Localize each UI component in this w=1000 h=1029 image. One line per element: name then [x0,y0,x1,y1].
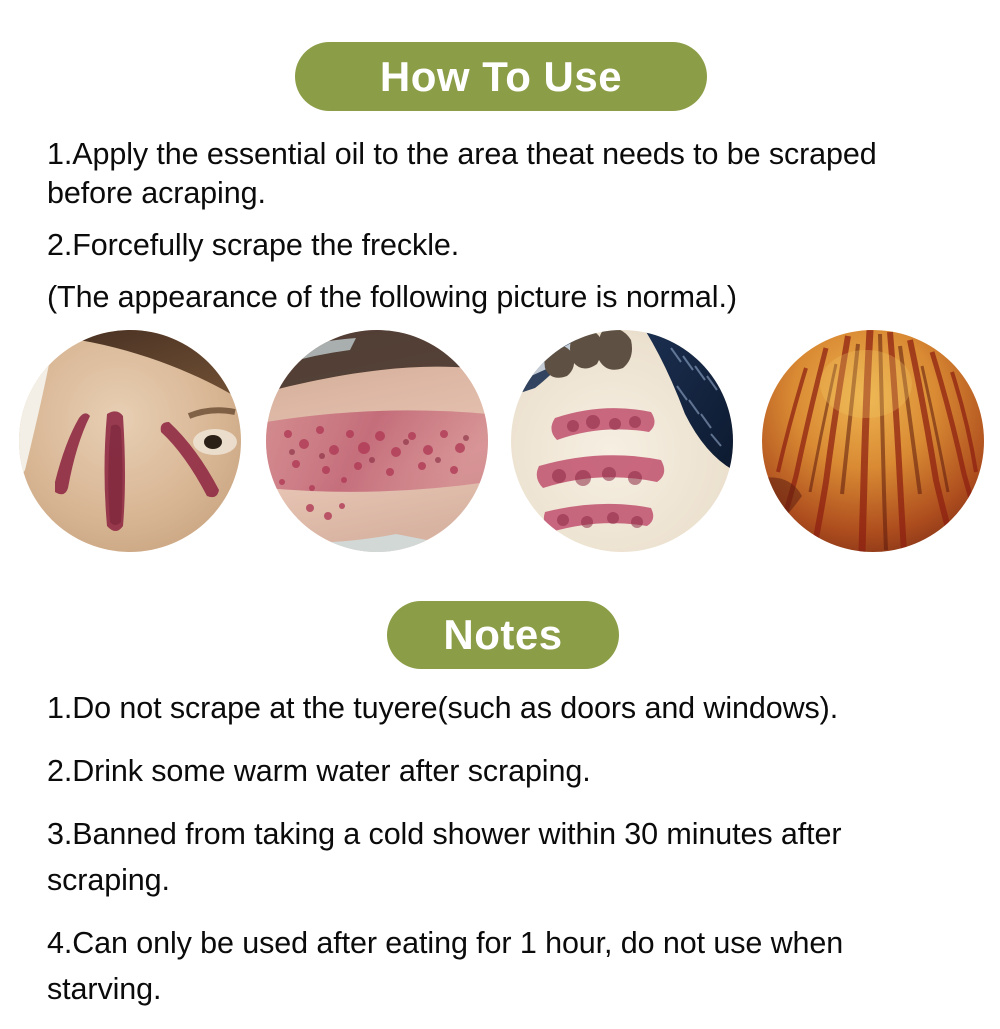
how-to-use-item-2: 2.Forcefully scrape the freckle. [47,226,962,265]
how-to-use-item-1: 1.Apply the essential oil to the area th… [47,135,962,213]
notes-text-block: 1.Do not scrape at the tuyere(such as do… [47,685,962,1029]
notes-item-1: 1.Do not scrape at the tuyere(such as do… [47,685,962,731]
photo-back-three-stripes [511,330,733,552]
photo-back-vertical-streaks [762,330,984,552]
how-to-use-heading-label: How To Use [380,53,622,101]
section-heading-how-to-use: How To Use [295,42,707,111]
photo-gallery [0,330,1000,556]
notes-item-2: 2.Drink some warm water after scraping. [47,748,962,794]
photo-arm-red-petechiae [266,330,488,552]
how-to-use-text-block: 1.Apply the essential oil to the area th… [47,135,962,330]
notes-item-3: 3.Banned from taking a cold shower withi… [47,811,962,903]
notes-item-4: 4.Can only be used after eating for 1 ho… [47,920,962,1012]
photo-neck-scraping-marks [19,330,241,552]
section-heading-notes: Notes [387,601,619,669]
how-to-use-item-3: (The appearance of the following picture… [47,278,962,317]
page-root: How To Use 1.Apply the essential oil to … [0,0,1000,1000]
notes-heading-label: Notes [443,611,562,659]
